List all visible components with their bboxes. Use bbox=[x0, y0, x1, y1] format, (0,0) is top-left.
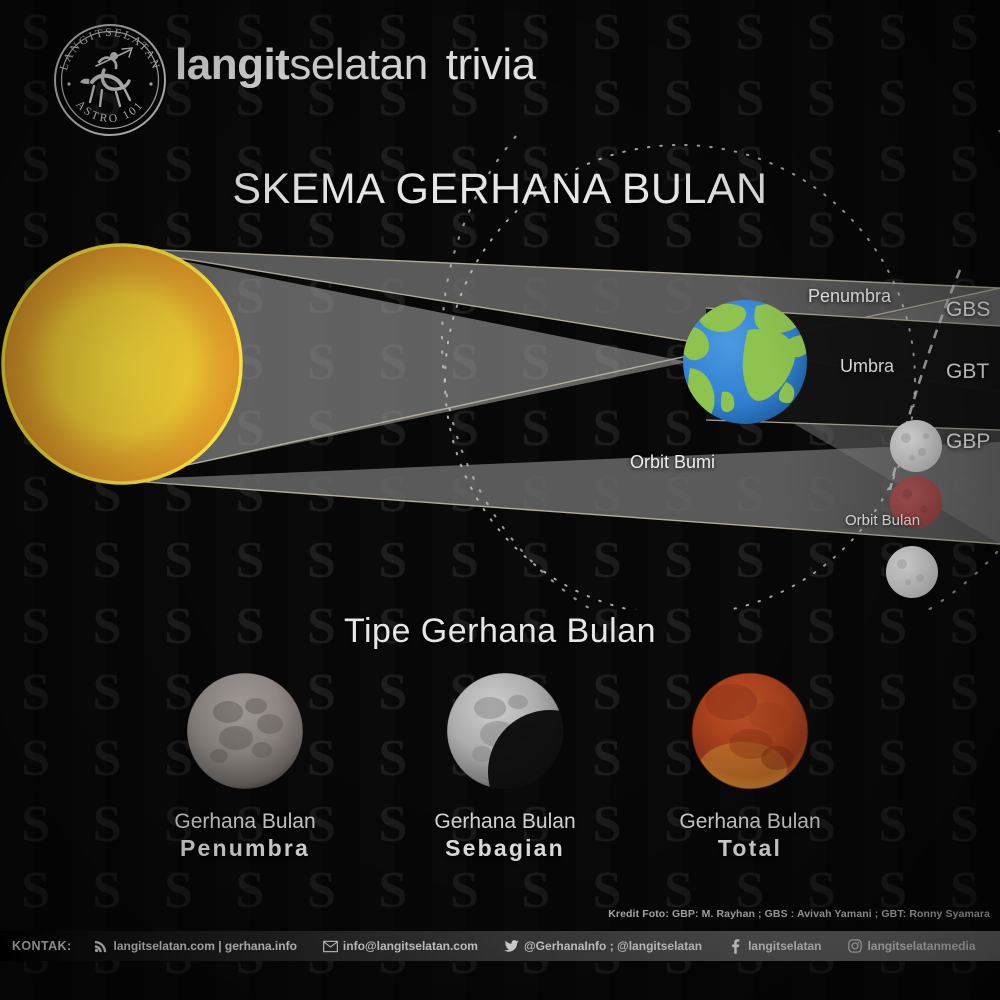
label-orbit-bulan: Orbit Bulan bbox=[845, 512, 920, 529]
label-gbt: GBT bbox=[946, 360, 989, 384]
label-gbs: GBS bbox=[946, 298, 990, 322]
wordmark-trivia: trivia bbox=[446, 40, 536, 89]
photo-credit: Kredit Foto: GBP: M. Rayhan ; GBS : Aviv… bbox=[608, 908, 990, 920]
caption-bottom: Penumbra bbox=[115, 834, 375, 864]
label-umbra: Umbra bbox=[840, 356, 894, 377]
moon-marker-gbs bbox=[890, 420, 942, 472]
svg-text:LANGITSELATAN: LANGITSELATAN bbox=[58, 27, 162, 72]
footer-item-text: langitselatanmedia bbox=[867, 939, 975, 953]
eclipse-type-total: Gerhana Bulan Total bbox=[620, 672, 880, 864]
caption-top: Gerhana Bulan bbox=[115, 810, 375, 834]
wordmark: langitselatantrivia bbox=[175, 40, 536, 90]
footer-item-twitter[interactable]: @GerhanaInfo ; @langitselatan bbox=[504, 939, 702, 954]
wordmark-selatan: selatan bbox=[289, 40, 427, 89]
header: LANGITSELATAN ASTRO 101 bbox=[0, 0, 1000, 140]
facebook-icon bbox=[728, 939, 743, 954]
label-penumbra: Penumbra bbox=[808, 286, 891, 307]
footer-item-text: langitselatan bbox=[748, 939, 821, 953]
caption-bottom: Total bbox=[620, 834, 880, 864]
caption-sebagian: Gerhana Bulan Sebagian bbox=[375, 810, 635, 864]
partial-moon-photo bbox=[446, 672, 564, 790]
total-moon-photo bbox=[691, 672, 809, 790]
caption-total: Gerhana Bulan Total bbox=[620, 810, 880, 864]
caption-bottom: Sebagian bbox=[375, 834, 635, 864]
label-orbit-bumi: Orbit Bumi bbox=[630, 452, 715, 473]
footer-item-text: langitselatan.com | gerhana.info bbox=[114, 939, 297, 953]
footer-item-instagram[interactable]: langitselatanmedia bbox=[847, 939, 975, 954]
caption-penumbra: Gerhana Bulan Penumbra bbox=[115, 810, 375, 864]
footer-item-email[interactable]: info@langitselatan.com bbox=[323, 939, 478, 954]
rss-icon bbox=[94, 939, 109, 954]
eclipse-type-sebagian: Gerhana Bulan Sebagian bbox=[375, 672, 635, 864]
caption-top: Gerhana Bulan bbox=[620, 810, 880, 834]
eclipse-type-penumbra: Gerhana Bulan Penumbra bbox=[115, 672, 375, 864]
twitter-icon bbox=[504, 939, 519, 954]
moon-marker-gbp bbox=[886, 546, 938, 598]
section-title-types: Tipe Gerhana Bulan bbox=[0, 612, 1000, 651]
footer-item-text: info@langitselatan.com bbox=[343, 939, 478, 953]
footer-item-text: @GerhanaInfo ; @langitselatan bbox=[524, 939, 702, 953]
footer-label: KONTAK: bbox=[12, 939, 72, 953]
label-gbp: GBP bbox=[946, 430, 990, 454]
caption-top: Gerhana Bulan bbox=[375, 810, 635, 834]
penumbral-moon-photo bbox=[186, 672, 304, 790]
langitselatan-logo-icon: LANGITSELATAN ASTRO 101 bbox=[52, 22, 168, 138]
instagram-icon bbox=[847, 939, 862, 954]
footer-item-facebook[interactable]: langitselatan bbox=[728, 939, 821, 954]
contact-footer: KONTAK: langitselatan.com | gerhana.info… bbox=[0, 931, 1000, 961]
wordmark-langit: langit bbox=[175, 40, 289, 89]
sun-object bbox=[2, 244, 242, 484]
footer-item-website[interactable]: langitselatan.com | gerhana.info bbox=[94, 939, 297, 954]
infographic-page: SSSSSSSSSSSSSSSSSSSSSSSSSSSSSSSSSSSSSSSS… bbox=[0, 0, 1000, 1000]
envelope-icon bbox=[323, 939, 338, 954]
